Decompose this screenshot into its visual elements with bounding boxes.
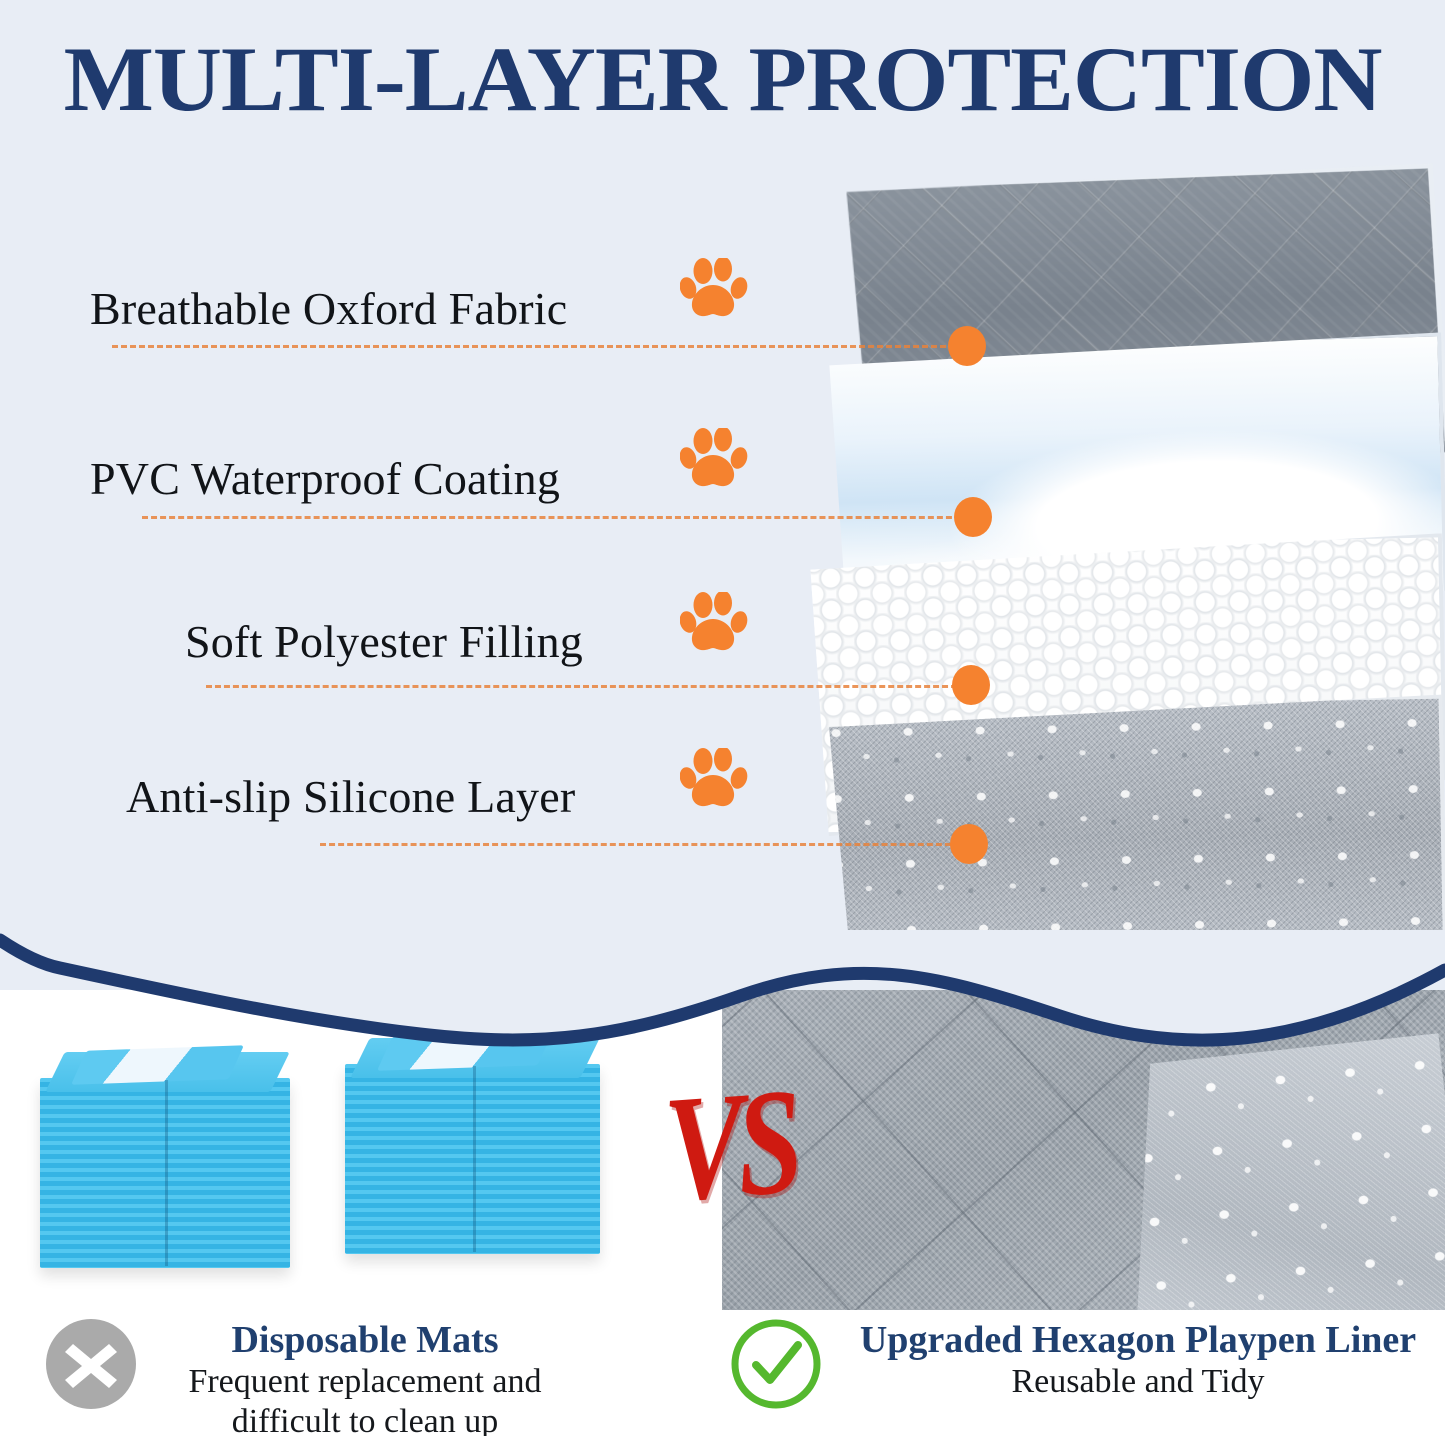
waterproof-backing-fold xyxy=(1103,1033,1445,1310)
playpen-liner-heading: Upgraded Hexagon Playpen Liner xyxy=(838,1320,1438,1361)
paw-print-icon xyxy=(680,258,750,324)
callout-dashed-line-2 xyxy=(142,516,970,519)
disposable-mat-stack-1 xyxy=(40,1052,290,1272)
layer-label-silicone-layer: Anti-slip Silicone Layer xyxy=(126,770,575,823)
layer-label-pvc-coating: PVC Waterproof Coating xyxy=(90,452,560,505)
paw-print-icon xyxy=(680,428,750,494)
callout-dot-3 xyxy=(952,665,990,705)
layer-label-polyester-filling: Soft Polyester Filling xyxy=(185,615,583,668)
hexagon-playpen-liner-photo xyxy=(722,990,1445,1310)
disposable-mat-stack-2 xyxy=(345,1038,600,1266)
callout-dashed-line-3 xyxy=(206,685,966,688)
multi-layer-section: MULTI-LAYER PROTECTION Breathable Oxford… xyxy=(0,0,1445,1010)
layer-image-silicone-layer xyxy=(810,694,1445,980)
playpen-liner-caption: Upgraded Hexagon Playpen Liner Reusable … xyxy=(838,1320,1438,1401)
page-title: MULTI-LAYER PROTECTION xyxy=(0,26,1445,132)
paw-print-icon xyxy=(680,748,750,814)
callout-dot-4 xyxy=(950,824,988,864)
disposable-mats-desc-line2: difficult to clean up xyxy=(150,1403,580,1436)
callout-dashed-line-1 xyxy=(112,345,964,348)
disposable-mats-heading: Disposable Mats xyxy=(150,1320,580,1361)
comparison-section: VS Disposable Mats Frequent replacement … xyxy=(0,990,1445,1436)
disposable-mats-desc-line1: Frequent replacement and xyxy=(150,1363,580,1401)
disposable-mats-photo xyxy=(0,990,722,1310)
layer-label-oxford-fabric: Breathable Oxford Fabric xyxy=(90,282,567,335)
callout-dashed-line-4 xyxy=(320,843,960,846)
callout-dot-2 xyxy=(954,497,992,537)
vs-label: VS xyxy=(660,1054,801,1236)
callout-dot-1 xyxy=(948,326,986,366)
paw-print-icon xyxy=(680,592,750,658)
x-mark-circle-icon xyxy=(45,1318,137,1410)
infographic-canvas: MULTI-LAYER PROTECTION Breathable Oxford… xyxy=(0,0,1445,1436)
check-mark-circle-icon xyxy=(730,1318,822,1410)
disposable-mats-caption: Disposable Mats Frequent replacement and… xyxy=(150,1320,580,1436)
playpen-liner-desc-line1: Reusable and Tidy xyxy=(838,1363,1438,1401)
